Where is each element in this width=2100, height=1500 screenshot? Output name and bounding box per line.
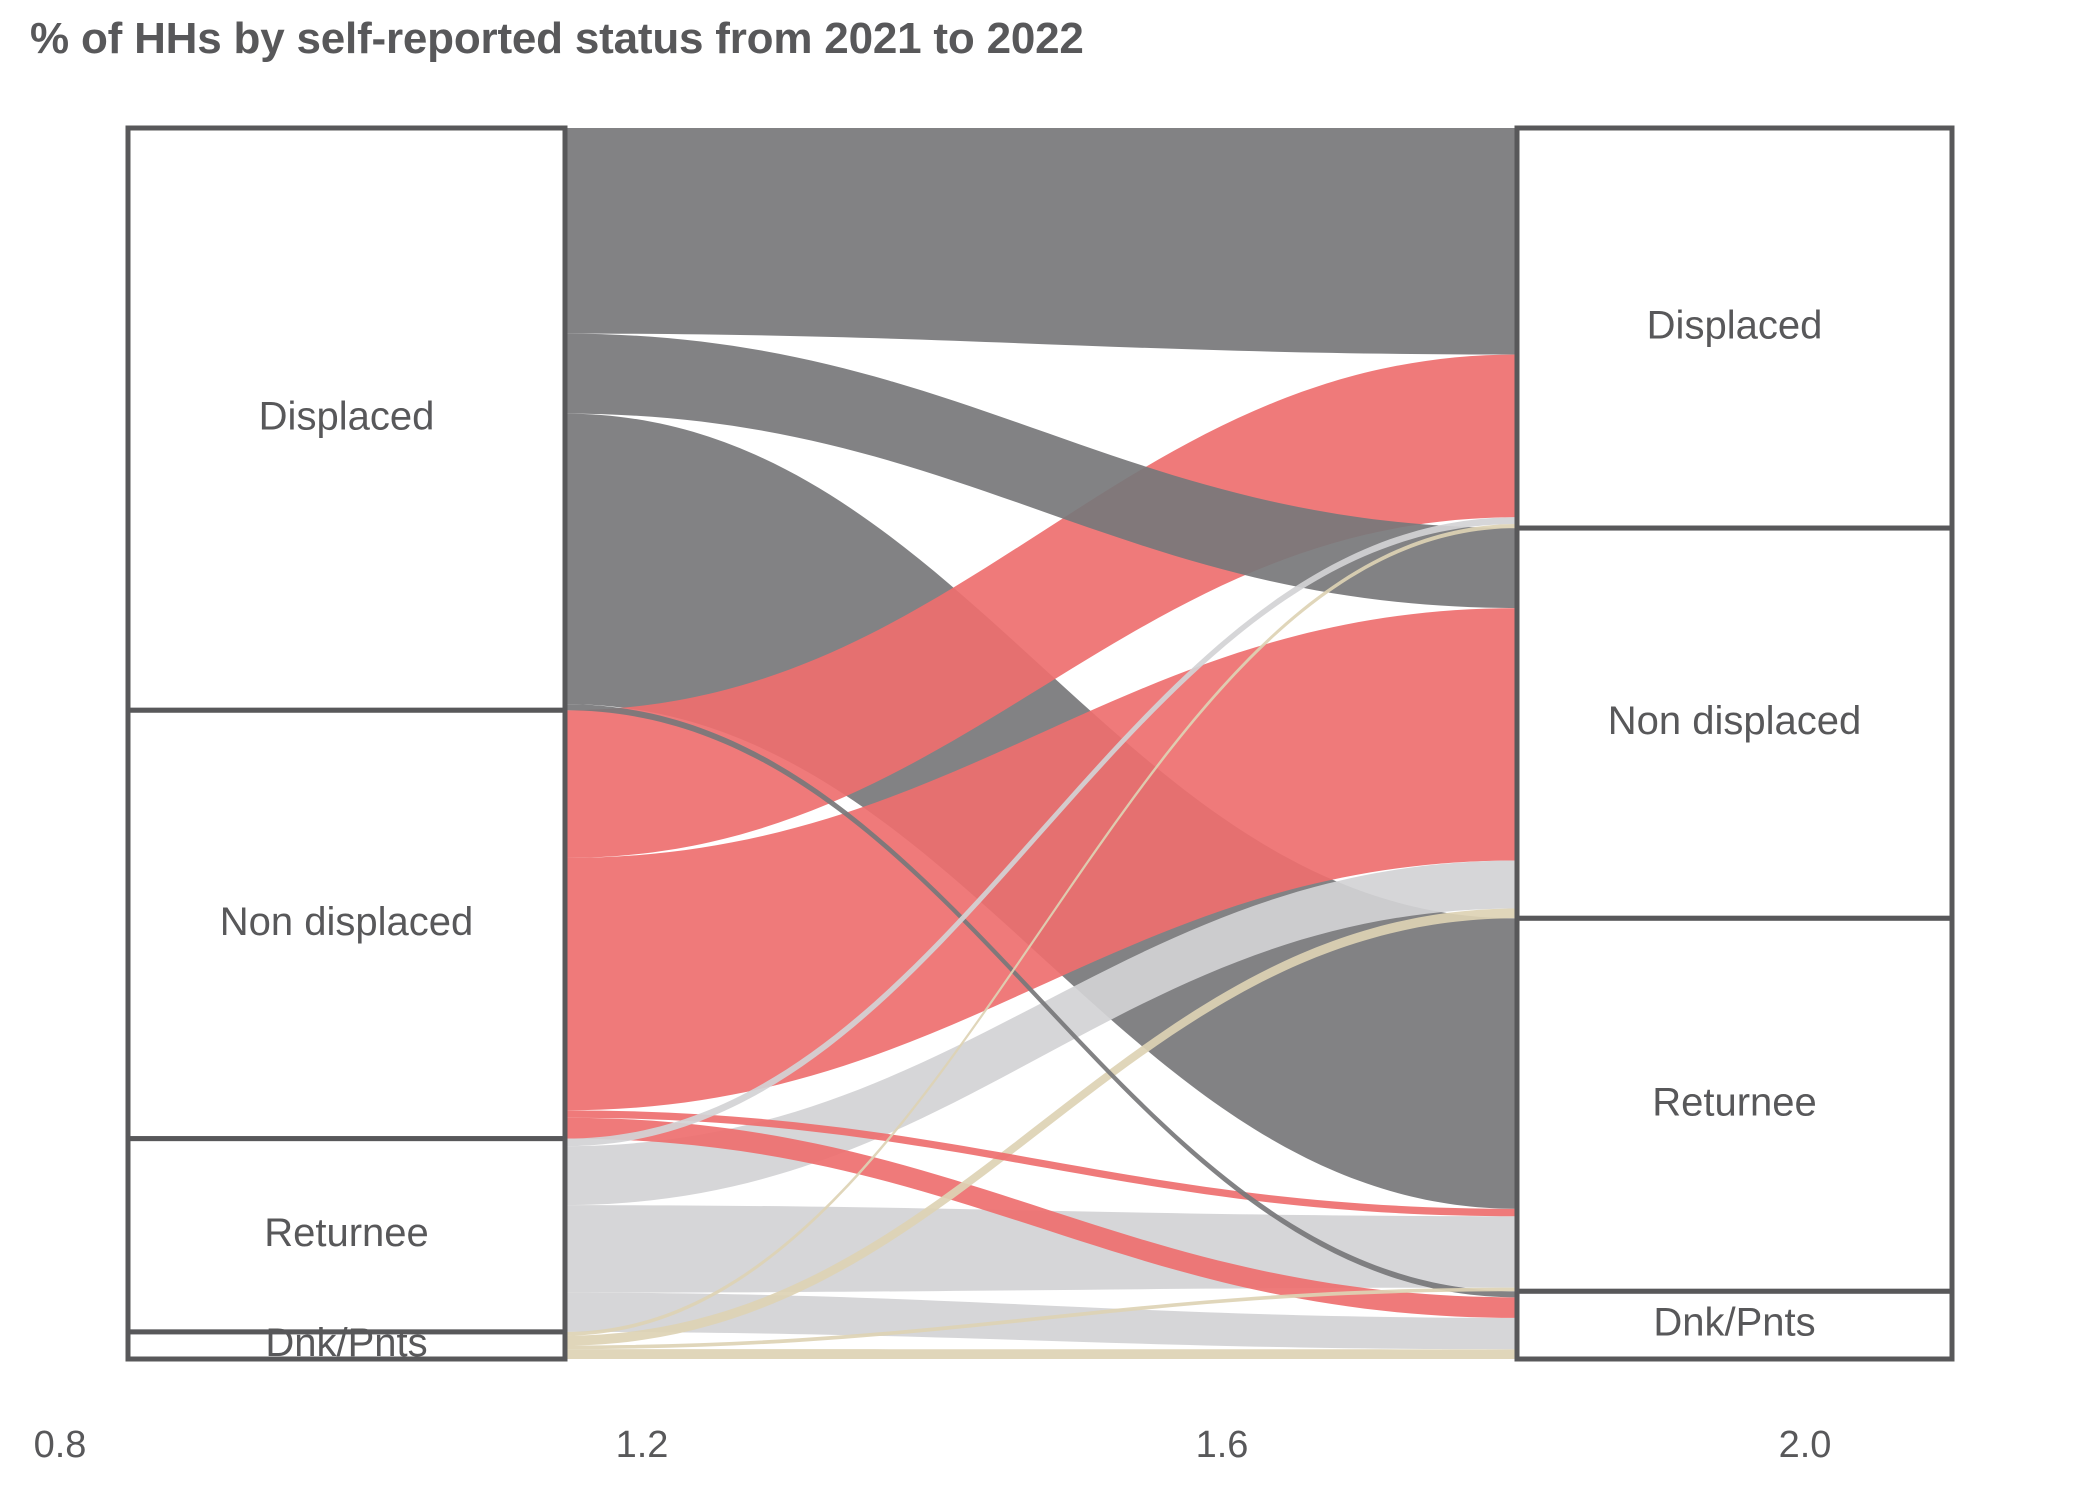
axis-tick-label-2: 1.6 — [1196, 1424, 1249, 1466]
flow-displaced-to-displaced[interactable] — [565, 128, 1517, 354]
axis-tick-label-1: 1.2 — [616, 1424, 669, 1466]
node-label-right-non_displaced: Non displaced — [1608, 699, 1862, 743]
node-label-right-dnk_pnts: Dnk/Pnts — [1653, 1301, 1815, 1345]
axis-tick-label-3: 2.0 — [1779, 1424, 1832, 1466]
node-label-left-displaced: Displaced — [259, 395, 435, 439]
flow-dnk_pnts-to-dnk_pnts[interactable] — [565, 1349, 1517, 1359]
node-label-left-returnee: Returnee — [264, 1211, 429, 1255]
flow-ribbons-layer — [565, 128, 1517, 1359]
x-axis-layer: 0.81.21.62.0 — [34, 1424, 1832, 1466]
node-label-left-dnk_pnts: Dnk/Pnts — [265, 1321, 427, 1365]
node-label-right-returnee: Returnee — [1652, 1080, 1817, 1124]
sankey-diagram: DisplacedNon displacedReturneeDnk/PntsDi… — [0, 0, 2100, 1500]
axis-tick-label-0: 0.8 — [34, 1424, 87, 1466]
sankey-chart-page: % of HHs by self-reported status from 20… — [0, 0, 2100, 1500]
node-label-left-non_displaced: Non displaced — [220, 900, 474, 944]
node-label-right-displaced: Displaced — [1647, 304, 1823, 348]
